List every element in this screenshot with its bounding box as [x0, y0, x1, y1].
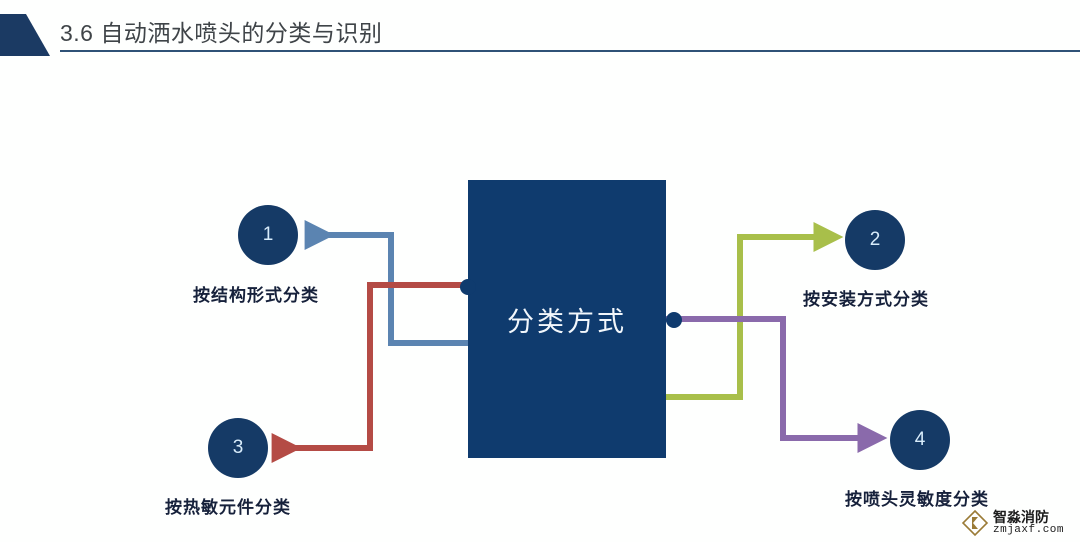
connector-to-branch-4	[666, 319, 876, 438]
slide-header: 3.6 自动洒水喷头的分类与识别	[0, 0, 1080, 62]
branch-circle-1[interactable]: 1	[238, 205, 298, 265]
page-title: 3.6 自动洒水喷头的分类与识别	[60, 18, 382, 48]
branch-circle-4[interactable]: 4	[890, 410, 950, 470]
classification-diagram: 分类方式 1 按结构形式分类 2 按安装方式分类 3 按热敏元件分类 4 按喷头…	[0, 62, 1080, 542]
center-node-label: 分类方式	[507, 300, 627, 339]
connector-to-branch-3	[283, 285, 468, 448]
branch-label-2: 按安装方式分类	[803, 285, 929, 310]
branch-circle-2[interactable]: 2	[845, 210, 905, 270]
diamond-logo-icon	[960, 508, 990, 538]
header-accent-shape	[0, 14, 50, 56]
branch-number-3: 3	[233, 437, 244, 459]
center-node-port-right	[666, 312, 682, 328]
branch-number-1: 1	[263, 224, 274, 246]
branch-number-4: 4	[915, 429, 926, 451]
watermark-text: 智淼消防 zmjaxf.com	[993, 510, 1064, 536]
header-divider	[60, 50, 1080, 52]
slide-canvas: 3.6 自动洒水喷头的分类与识别	[0, 0, 1080, 542]
branch-label-1: 按结构形式分类	[193, 281, 319, 306]
center-node[interactable]: 分类方式	[468, 180, 666, 458]
watermark: 智淼消防 zmjaxf.com	[960, 505, 1078, 541]
watermark-brand-name: 智淼消防	[993, 510, 1064, 525]
branch-number-2: 2	[870, 229, 881, 251]
center-node-port-left	[460, 279, 476, 295]
branch-label-3: 按热敏元件分类	[165, 493, 291, 518]
branch-circle-3[interactable]: 3	[208, 418, 268, 478]
connector-to-branch-1	[316, 235, 468, 343]
watermark-url: zmjaxf.com	[993, 525, 1064, 537]
